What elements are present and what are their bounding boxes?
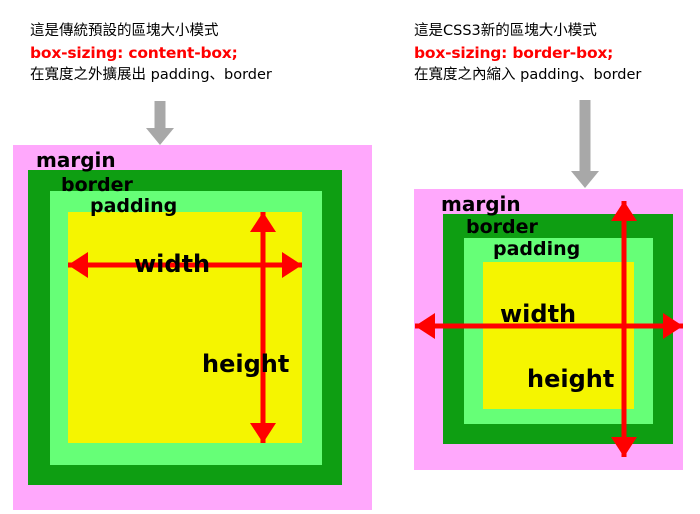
down-arrow-icon xyxy=(571,100,599,188)
caption-line-1: 這是傳統預設的區塊大小模式 xyxy=(30,20,272,42)
down-arrow-shaft xyxy=(155,101,166,129)
caption-line-1: 這是CSS3新的區塊大小模式 xyxy=(414,20,641,42)
caption-code-line: box-sizing: border-box; xyxy=(414,42,641,64)
border-box-caption: 這是CSS3新的區塊大小模式 box-sizing: border-box; 在… xyxy=(414,20,641,86)
height-dimension-arrow xyxy=(250,212,276,443)
width-arrow-right-head xyxy=(282,252,302,278)
width-arrow-right-head xyxy=(663,313,683,339)
height-arrow-top-head xyxy=(250,212,276,232)
margin-label: margin xyxy=(441,192,521,216)
height-arrow-top-head xyxy=(611,201,637,221)
height-arrow-bar xyxy=(261,212,266,443)
caption-line-3: 在寬度之內縮入 padding、border xyxy=(414,64,641,86)
height-label: height xyxy=(202,350,289,378)
border-label: border xyxy=(61,174,133,196)
down-arrow-icon xyxy=(146,101,174,145)
down-arrow-head xyxy=(146,128,174,145)
content-box-caption: 這是傳統預設的區塊大小模式 box-sizing: content-box; 在… xyxy=(30,20,272,86)
height-label: height xyxy=(527,365,614,393)
border-label: border xyxy=(466,216,538,238)
height-arrow-bottom-head xyxy=(611,437,637,457)
height-dimension-arrow xyxy=(611,201,637,457)
width-label: width xyxy=(134,250,210,278)
width-arrow-left-head xyxy=(415,313,435,339)
down-arrow-shaft xyxy=(580,100,591,171)
padding-label: padding xyxy=(90,195,177,217)
height-arrow-bar xyxy=(622,201,627,457)
caption-code-line: box-sizing: content-box; xyxy=(30,42,272,64)
down-arrow-head xyxy=(571,171,599,188)
margin-label: margin xyxy=(36,148,116,172)
caption-line-3: 在寬度之外擴展出 padding、border xyxy=(30,64,272,86)
width-label: width xyxy=(500,300,576,328)
padding-label: padding xyxy=(493,238,580,260)
height-arrow-bottom-head xyxy=(250,423,276,443)
width-arrow-left-head xyxy=(68,252,88,278)
